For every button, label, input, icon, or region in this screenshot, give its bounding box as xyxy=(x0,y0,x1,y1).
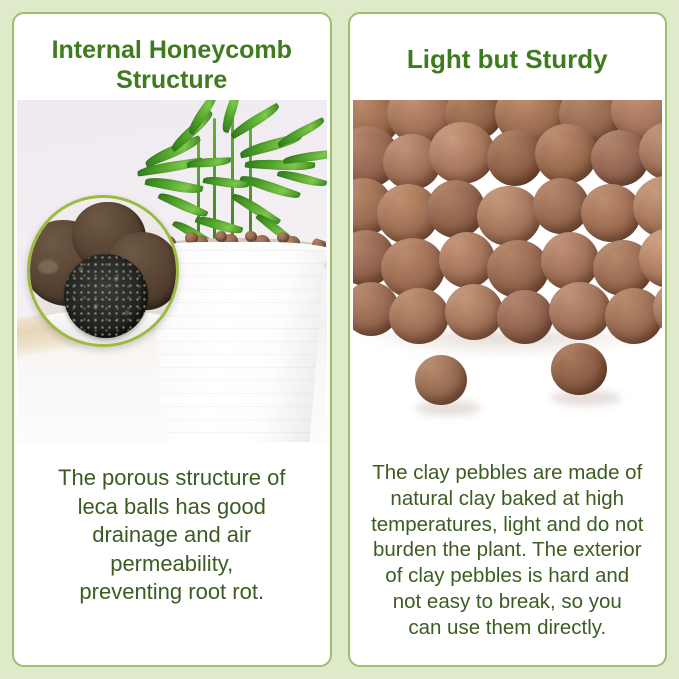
panel-title-left: Internal Honeycomb Structure xyxy=(14,14,330,100)
panel-light-but-sturdy: Light but Sturdy xyxy=(348,12,668,667)
panel-internal-honeycomb-structure: Internal Honeycomb Structure xyxy=(12,12,332,667)
photo-clay-pebble-pile xyxy=(353,100,663,442)
pebble-pile xyxy=(353,100,663,350)
pile-contact-shadow xyxy=(353,332,663,358)
cut-open-pebble-core xyxy=(64,254,148,338)
photo-potted-plant xyxy=(17,100,327,442)
panel-body-right: The clay pebbles are made of natural cla… xyxy=(350,442,666,665)
infographic-root: Internal Honeycomb Structure xyxy=(0,0,679,679)
panel-title-right: Light but Sturdy xyxy=(350,14,666,100)
pebble-scene-background xyxy=(353,100,663,442)
cut-pebble-inset xyxy=(27,195,179,347)
solo-pebble-left xyxy=(415,355,467,405)
plant-scene-background xyxy=(17,100,327,442)
panel-body-left: The porous structure of leca balls has g… xyxy=(14,442,330,665)
solo-pebble-right xyxy=(551,343,607,395)
